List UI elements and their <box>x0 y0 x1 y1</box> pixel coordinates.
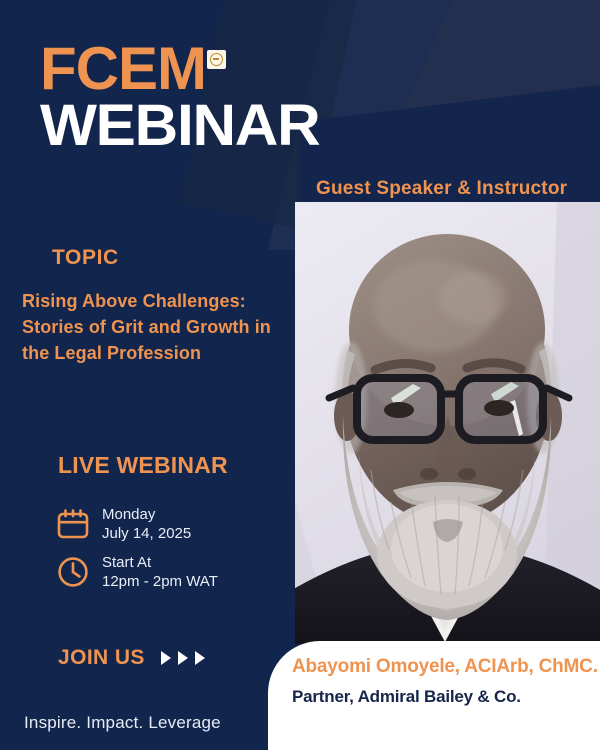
arrow-group <box>161 651 205 665</box>
header: FCEM WEBINAR <box>40 38 340 156</box>
topic-text: Rising Above Challenges: Stories of Grit… <box>22 288 290 366</box>
brand-row: FCEM <box>40 38 340 100</box>
play-triangle-icon <box>178 651 188 665</box>
schedule-time-text: Start At 12pm - 2pm WAT <box>102 553 218 591</box>
schedule-time-line1: Start At <box>102 554 151 571</box>
schedule-row-time: Start At 12pm - 2pm WAT <box>56 553 286 591</box>
join-us-label: JOIN US <box>58 646 145 670</box>
speaker-name-card: Abayomi Omoyele, ACIArb, ChMC. Partner, … <box>268 641 600 750</box>
schedule-time-line2: 12pm - 2pm WAT <box>102 572 218 591</box>
join-us-row[interactable]: JOIN US <box>58 646 205 670</box>
page-title: WEBINAR <box>40 96 352 156</box>
play-triangle-icon <box>195 651 205 665</box>
tagline: Inspire. Impact. Leverage <box>24 713 221 733</box>
play-triangle-icon <box>161 651 171 665</box>
speaker-affiliation: Partner, Admiral Bailey & Co. <box>292 686 600 708</box>
speaker-name: Abayomi Omoyele, ACIArb, ChMC. <box>292 655 600 678</box>
seal-emblem-icon <box>207 50 226 69</box>
topic-label: TOPIC <box>52 246 119 270</box>
guest-speaker-label: Guest Speaker & Instructor <box>316 178 567 200</box>
schedule-date-line1: Monday <box>102 506 155 523</box>
schedule-list: Monday July 14, 2025 Start At 12pm - 2pm… <box>56 505 286 601</box>
calendar-icon <box>56 507 90 541</box>
speaker-portrait <box>295 202 600 644</box>
live-webinar-label: LIVE WEBINAR <box>58 452 228 479</box>
webinar-flyer: FCEM WEBINAR TOPIC Rising Above Challeng… <box>0 0 600 750</box>
schedule-date-line2: July 14, 2025 <box>102 524 191 543</box>
schedule-date-text: Monday July 14, 2025 <box>102 505 191 543</box>
clock-icon <box>56 555 90 589</box>
schedule-row-date: Monday July 14, 2025 <box>56 505 286 543</box>
brand-name: FCEM <box>40 38 206 100</box>
